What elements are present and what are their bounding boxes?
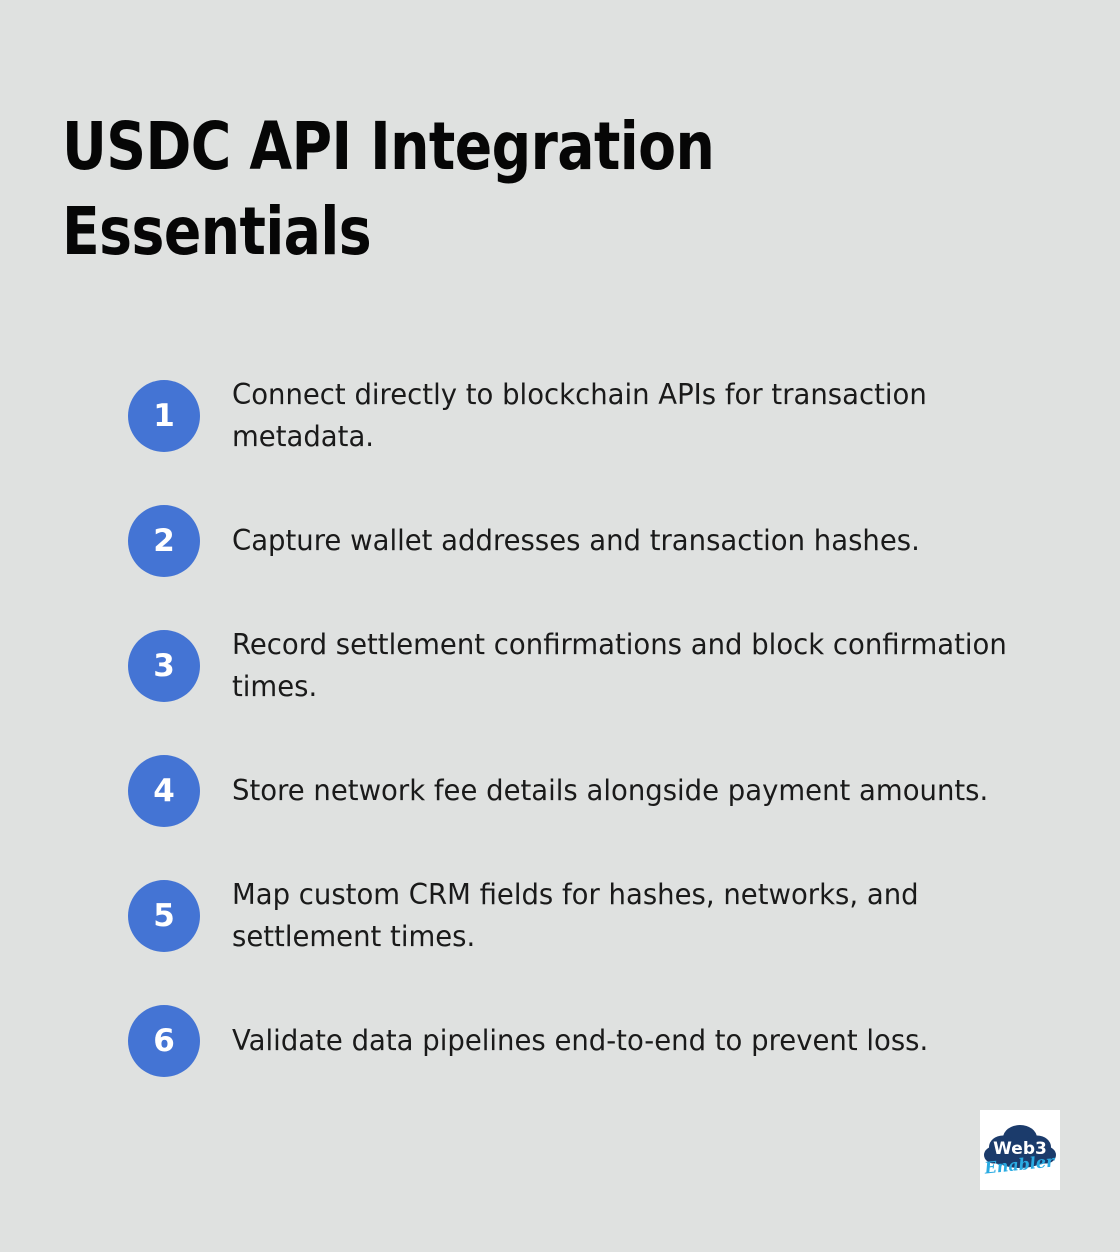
list-item: 5 Map custom CRM fields for hashes, netw… xyxy=(128,874,1068,958)
list-item: 3 Record settlement confirmations and bl… xyxy=(128,624,1068,708)
list-item: 4 Store network fee details alongside pa… xyxy=(128,755,1068,827)
brand-logo: Web3 Enabler xyxy=(980,1110,1060,1190)
list-item: 1 Connect directly to blockchain APIs fo… xyxy=(128,374,1068,458)
step-text: Capture wallet addresses and transaction… xyxy=(232,505,1033,562)
step-number-badge: 4 xyxy=(128,755,200,827)
step-number-badge: 2 xyxy=(128,505,200,577)
infographic-canvas: USDC API Integration Essentials 1 Connec… xyxy=(0,0,1120,1252)
step-text: Map custom CRM fields for hashes, networ… xyxy=(232,874,1033,958)
step-number-badge: 3 xyxy=(128,630,200,702)
page-title: USDC API Integration Essentials xyxy=(62,104,769,274)
list-item: 6 Validate data pipelines end-to-end to … xyxy=(128,1005,1068,1077)
step-number-badge: 5 xyxy=(128,880,200,952)
step-text: Validate data pipelines end-to-end to pr… xyxy=(232,1005,1033,1062)
steps-list: 1 Connect directly to blockchain APIs fo… xyxy=(128,374,1068,1077)
step-text: Store network fee details alongside paym… xyxy=(232,755,1033,812)
step-text: Record settlement confirmations and bloc… xyxy=(232,624,1033,708)
web3-enabler-cloud-icon: Web3 Enabler xyxy=(980,1110,1060,1190)
page-title-block: USDC API Integration Essentials xyxy=(62,104,822,274)
list-item: 2 Capture wallet addresses and transacti… xyxy=(128,505,1068,577)
step-text: Connect directly to blockchain APIs for … xyxy=(232,374,1033,458)
step-number-badge: 1 xyxy=(128,380,200,452)
step-number-badge: 6 xyxy=(128,1005,200,1077)
